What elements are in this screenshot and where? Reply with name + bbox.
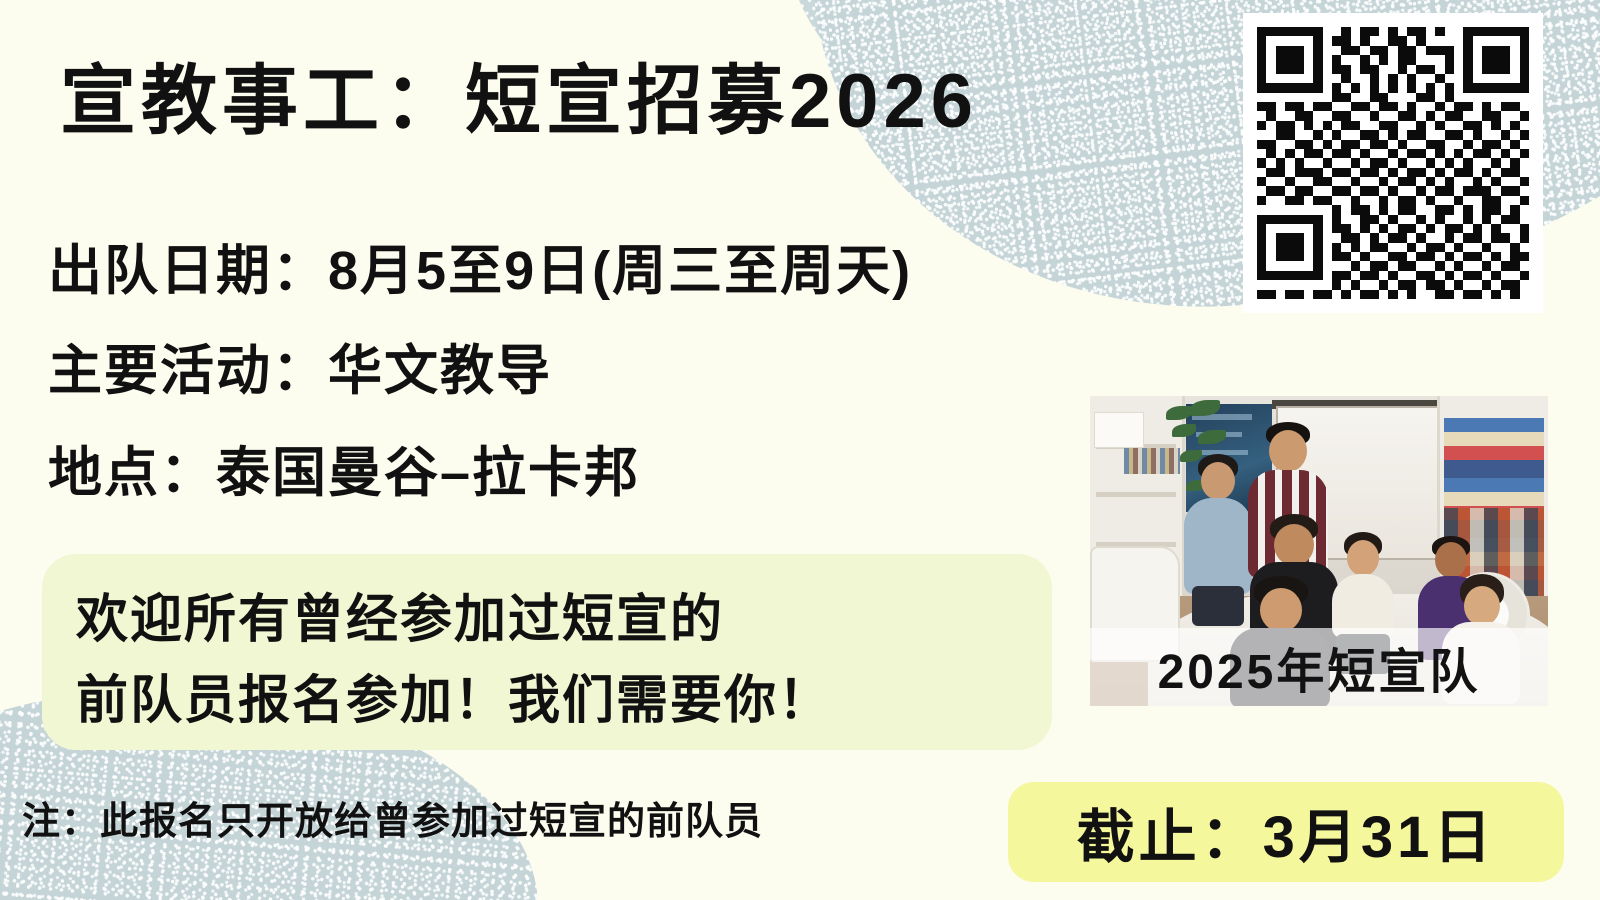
info-line-activity: 主要活动：华文教导 <box>48 340 552 402</box>
qr-code-matrix <box>1257 27 1529 299</box>
page-title: 宣教事工：短宣招募2026 <box>60 60 978 144</box>
photo-caption: 2025年短宣队 <box>1158 632 1481 702</box>
info-line-dates: 出队日期：8月5至9日(周三至周天) <box>48 240 912 302</box>
info-line-location: 地点：泰国曼谷–拉卡邦 <box>48 442 640 504</box>
highlight-callout-box: 欢迎所有曾经参加过短宣的 前队员报名参加！我们需要你！ <box>42 554 1052 750</box>
team-photo: 2025年短宣队 <box>1090 396 1548 706</box>
poster-canvas: 宣教事工：短宣招募2026 出队日期：8月5至9日(周三至周天) 主要活动：华文… <box>0 0 1600 900</box>
highlight-line-2: 前队员报名参加！我们需要你！ <box>76 661 1018 742</box>
qr-code[interactable] <box>1243 13 1543 313</box>
highlight-line-1: 欢迎所有曾经参加过短宣的 <box>76 580 1018 661</box>
deadline-text: 截止：3月31日 <box>1077 790 1496 874</box>
footnote-text: 注：此报名只开放给曾参加过短宣的前队员 <box>22 790 763 845</box>
photo-caption-band: 2025年短宣队 <box>1090 628 1548 706</box>
deadline-badge: 截止：3月31日 <box>1008 782 1564 882</box>
